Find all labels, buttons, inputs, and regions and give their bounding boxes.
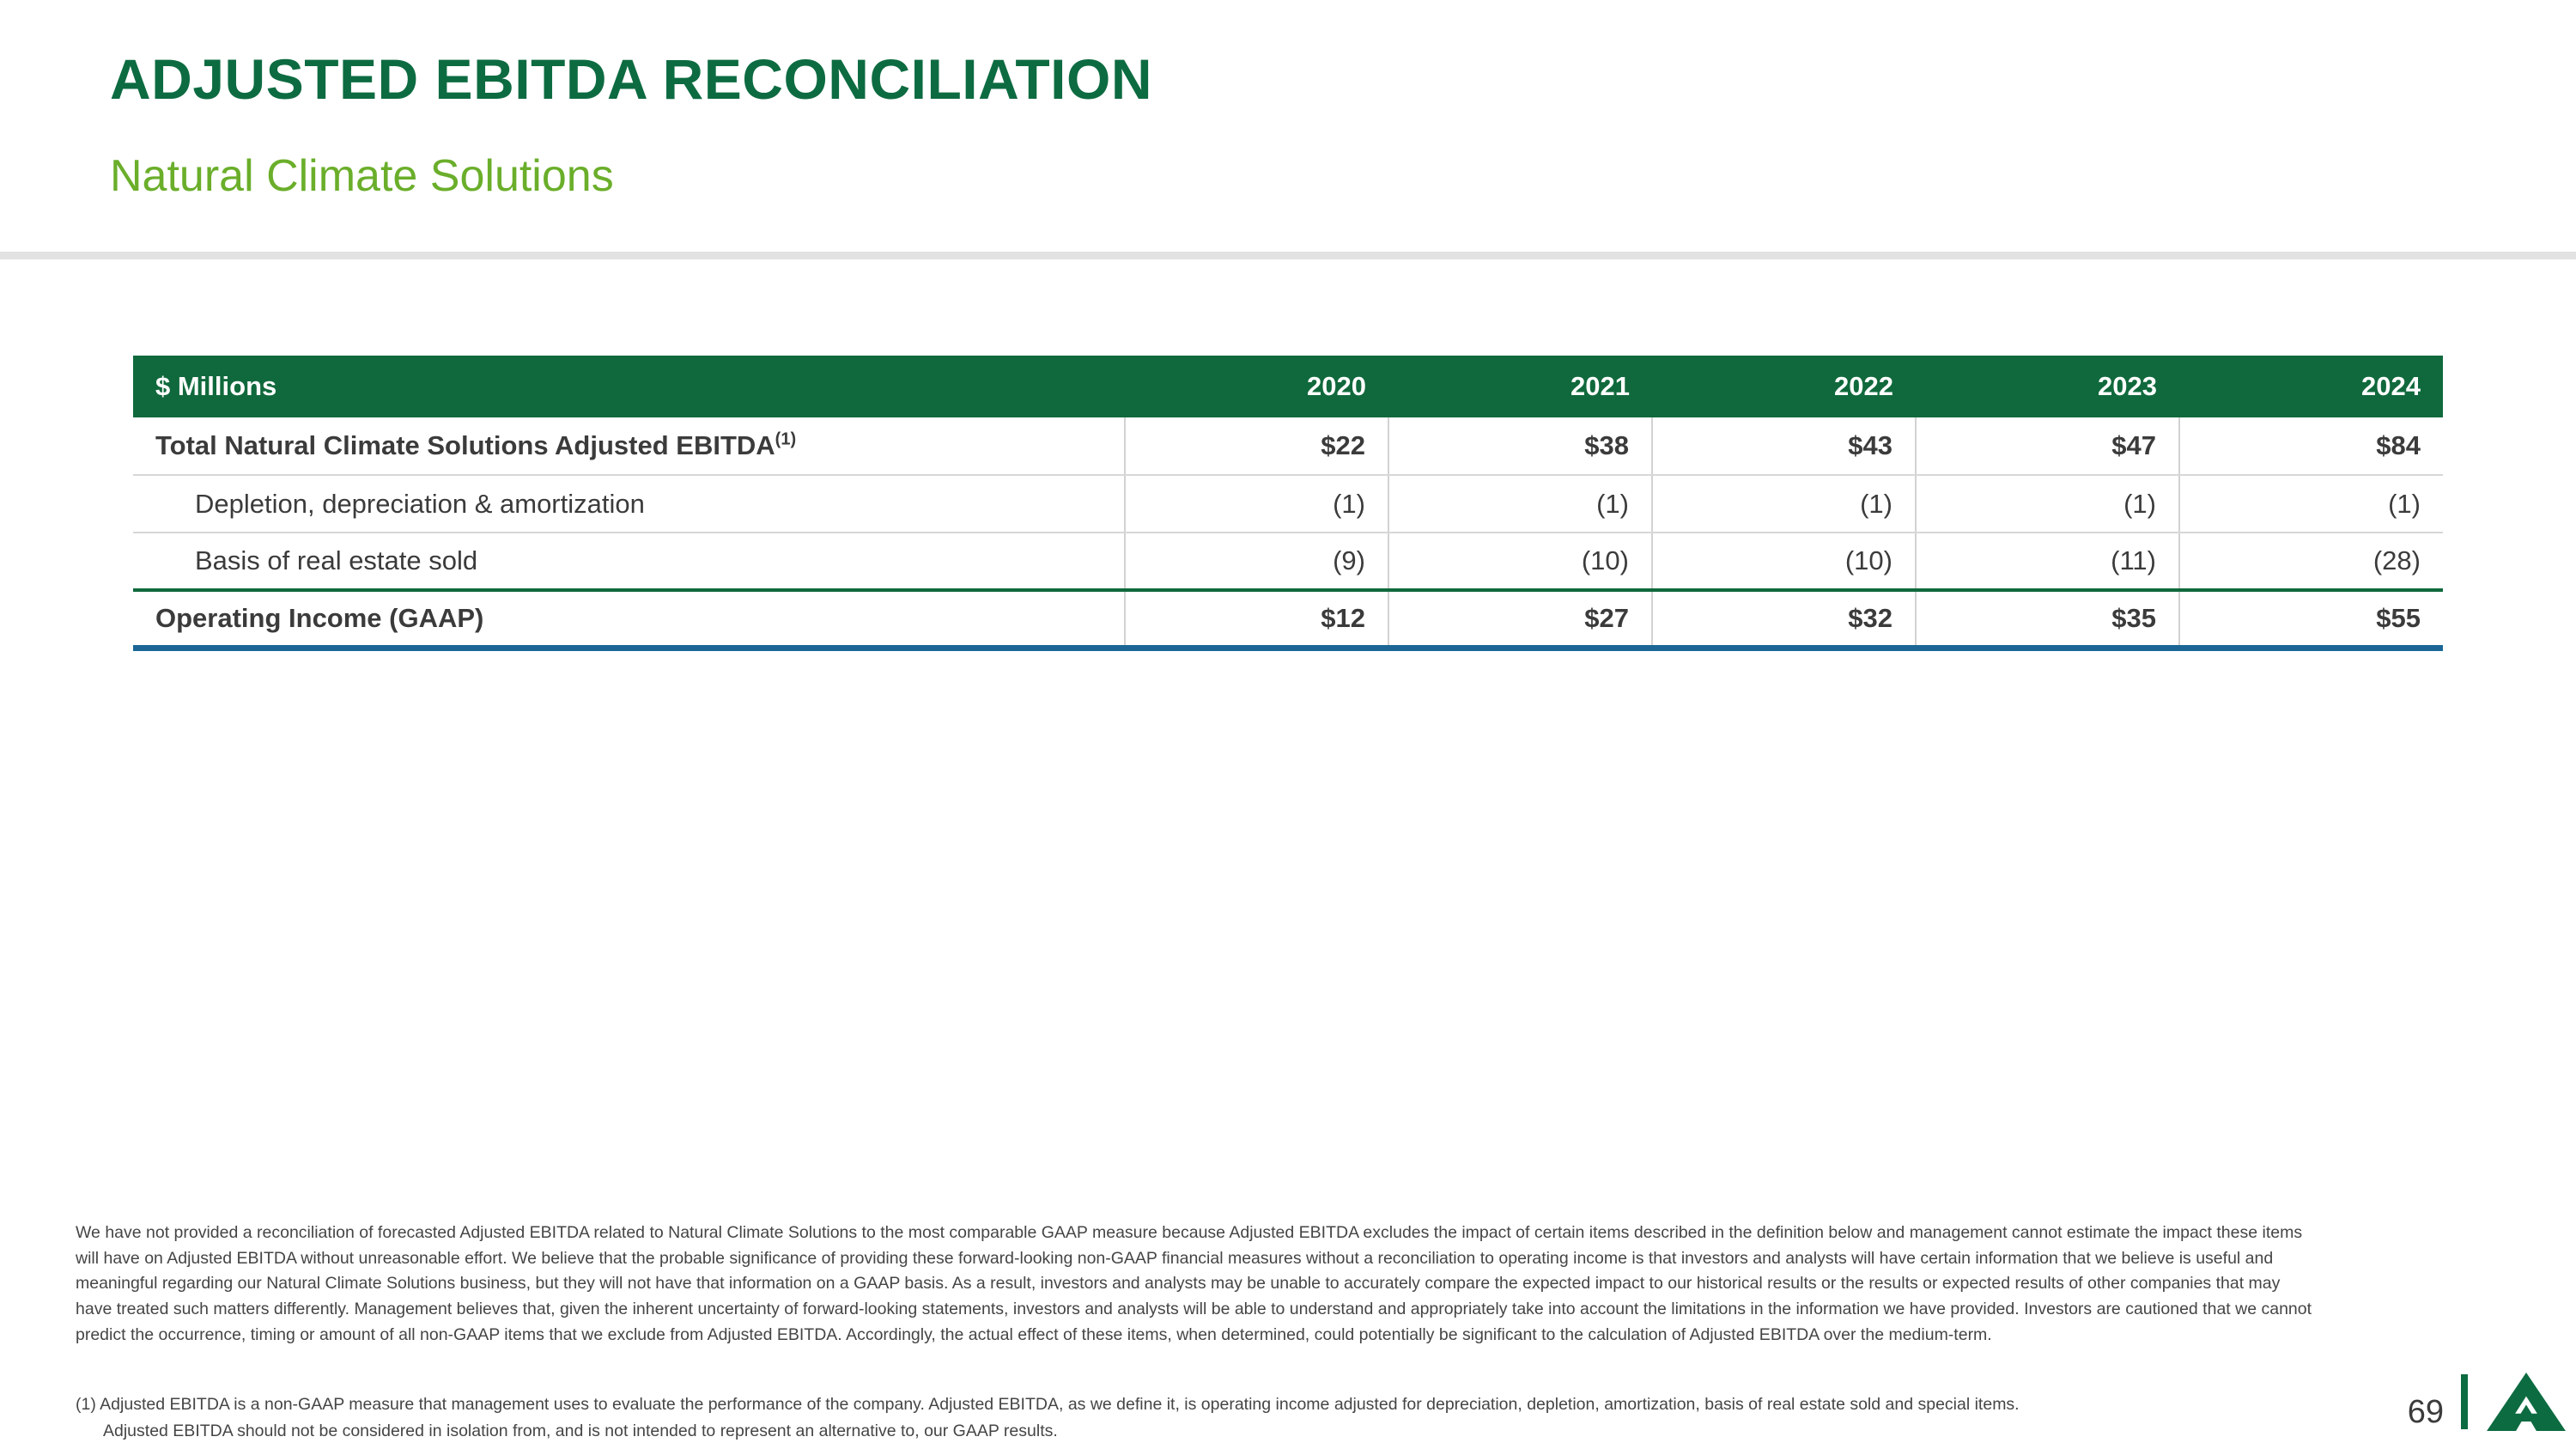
cell-value: $47 <box>1916 417 2179 475</box>
cell-value: $12 <box>1125 590 1388 648</box>
reconciliation-table-container: $ Millions 2020 2021 2022 2023 2024 Tota… <box>133 356 2443 651</box>
cell-value: (9) <box>1125 533 1388 590</box>
reconciliation-table: $ Millions 2020 2021 2022 2023 2024 Tota… <box>133 356 2443 651</box>
cell-value: $43 <box>1652 417 1916 475</box>
logo-divider <box>2461 1374 2468 1429</box>
table-header: $ Millions 2020 2021 2022 2023 2024 <box>133 356 2443 417</box>
cell-value: $38 <box>1388 417 1652 475</box>
page-title: ADJUSTED EBITDA RECONCILIATION <box>110 50 1152 109</box>
page-number: 69 <box>2387 1394 2444 1431</box>
page-subtitle: Natural Climate Solutions <box>110 153 614 200</box>
disclosure-paragraph: We have not provided a reconciliation of… <box>76 1221 2317 1348</box>
cell-value: (10) <box>1388 533 1652 590</box>
column-header-units: $ Millions <box>133 356 1125 417</box>
table-row: Basis of real estate sold (9) (10) (10) … <box>133 533 2443 590</box>
row-label-operating-income-gaap: Operating Income (GAAP) <box>133 590 1125 648</box>
table-header-row: $ Millions 2020 2021 2022 2023 2024 <box>133 356 2443 417</box>
row-label-total-adjusted-ebitda: Total Natural Climate Solutions Adjusted… <box>133 417 1125 475</box>
cell-value: (1) <box>1916 475 2179 533</box>
row-label-text: Total Natural Climate Solutions Adjusted… <box>155 430 775 460</box>
column-header-2022: 2022 <box>1652 356 1916 417</box>
table-row: Total Natural Climate Solutions Adjusted… <box>133 417 2443 475</box>
table-row: Operating Income (GAAP) $12 $27 $32 $35 … <box>133 590 2443 648</box>
cell-value: (28) <box>2179 533 2443 590</box>
column-header-2023: 2023 <box>1916 356 2179 417</box>
cell-value: (1) <box>1652 475 1916 533</box>
table-body: Total Natural Climate Solutions Adjusted… <box>133 417 2443 648</box>
cell-value: $32 <box>1652 590 1916 648</box>
row-label-basis-of-real-estate-sold: Basis of real estate sold <box>133 533 1125 590</box>
cell-value: $27 <box>1388 590 1652 648</box>
cell-value: (1) <box>2179 475 2443 533</box>
cell-value: $84 <box>2179 417 2443 475</box>
slide: ADJUSTED EBITDA RECONCILIATION Natural C… <box>0 0 2576 1449</box>
row-label-depletion-depreciation-amortization: Depletion, depreciation & amortization <box>133 475 1125 533</box>
cell-value: $35 <box>1916 590 2179 648</box>
footnote-line-1: (1) Adjusted EBITDA is a non-GAAP measur… <box>76 1395 2020 1414</box>
cell-value: (10) <box>1652 533 1916 590</box>
column-header-2024: 2024 <box>2179 356 2443 417</box>
table-row: Depletion, depreciation & amortization (… <box>133 475 2443 533</box>
arrow-tree-logo <box>2487 1373 2566 1431</box>
cell-value: (11) <box>1916 533 2179 590</box>
cell-value: $22 <box>1125 417 1388 475</box>
row-label-text: Depletion, depreciation & amortization <box>155 489 645 520</box>
header-divider <box>0 252 2576 259</box>
column-header-2020: 2020 <box>1125 356 1388 417</box>
slide-header: ADJUSTED EBITDA RECONCILIATION Natural C… <box>0 0 2576 258</box>
cell-value: (1) <box>1125 475 1388 533</box>
footnote-marker: (1) <box>775 430 796 449</box>
footnote-block: (1) Adjusted EBITDA is a non-GAAP measur… <box>76 1391 2248 1445</box>
column-header-2021: 2021 <box>1388 356 1652 417</box>
footnote-line-2: Adjusted EBITDA should not be considered… <box>76 1418 2248 1445</box>
cell-value: (1) <box>1388 475 1652 533</box>
cell-value: $55 <box>2179 590 2443 648</box>
row-label-text: Basis of real estate sold <box>155 545 477 576</box>
